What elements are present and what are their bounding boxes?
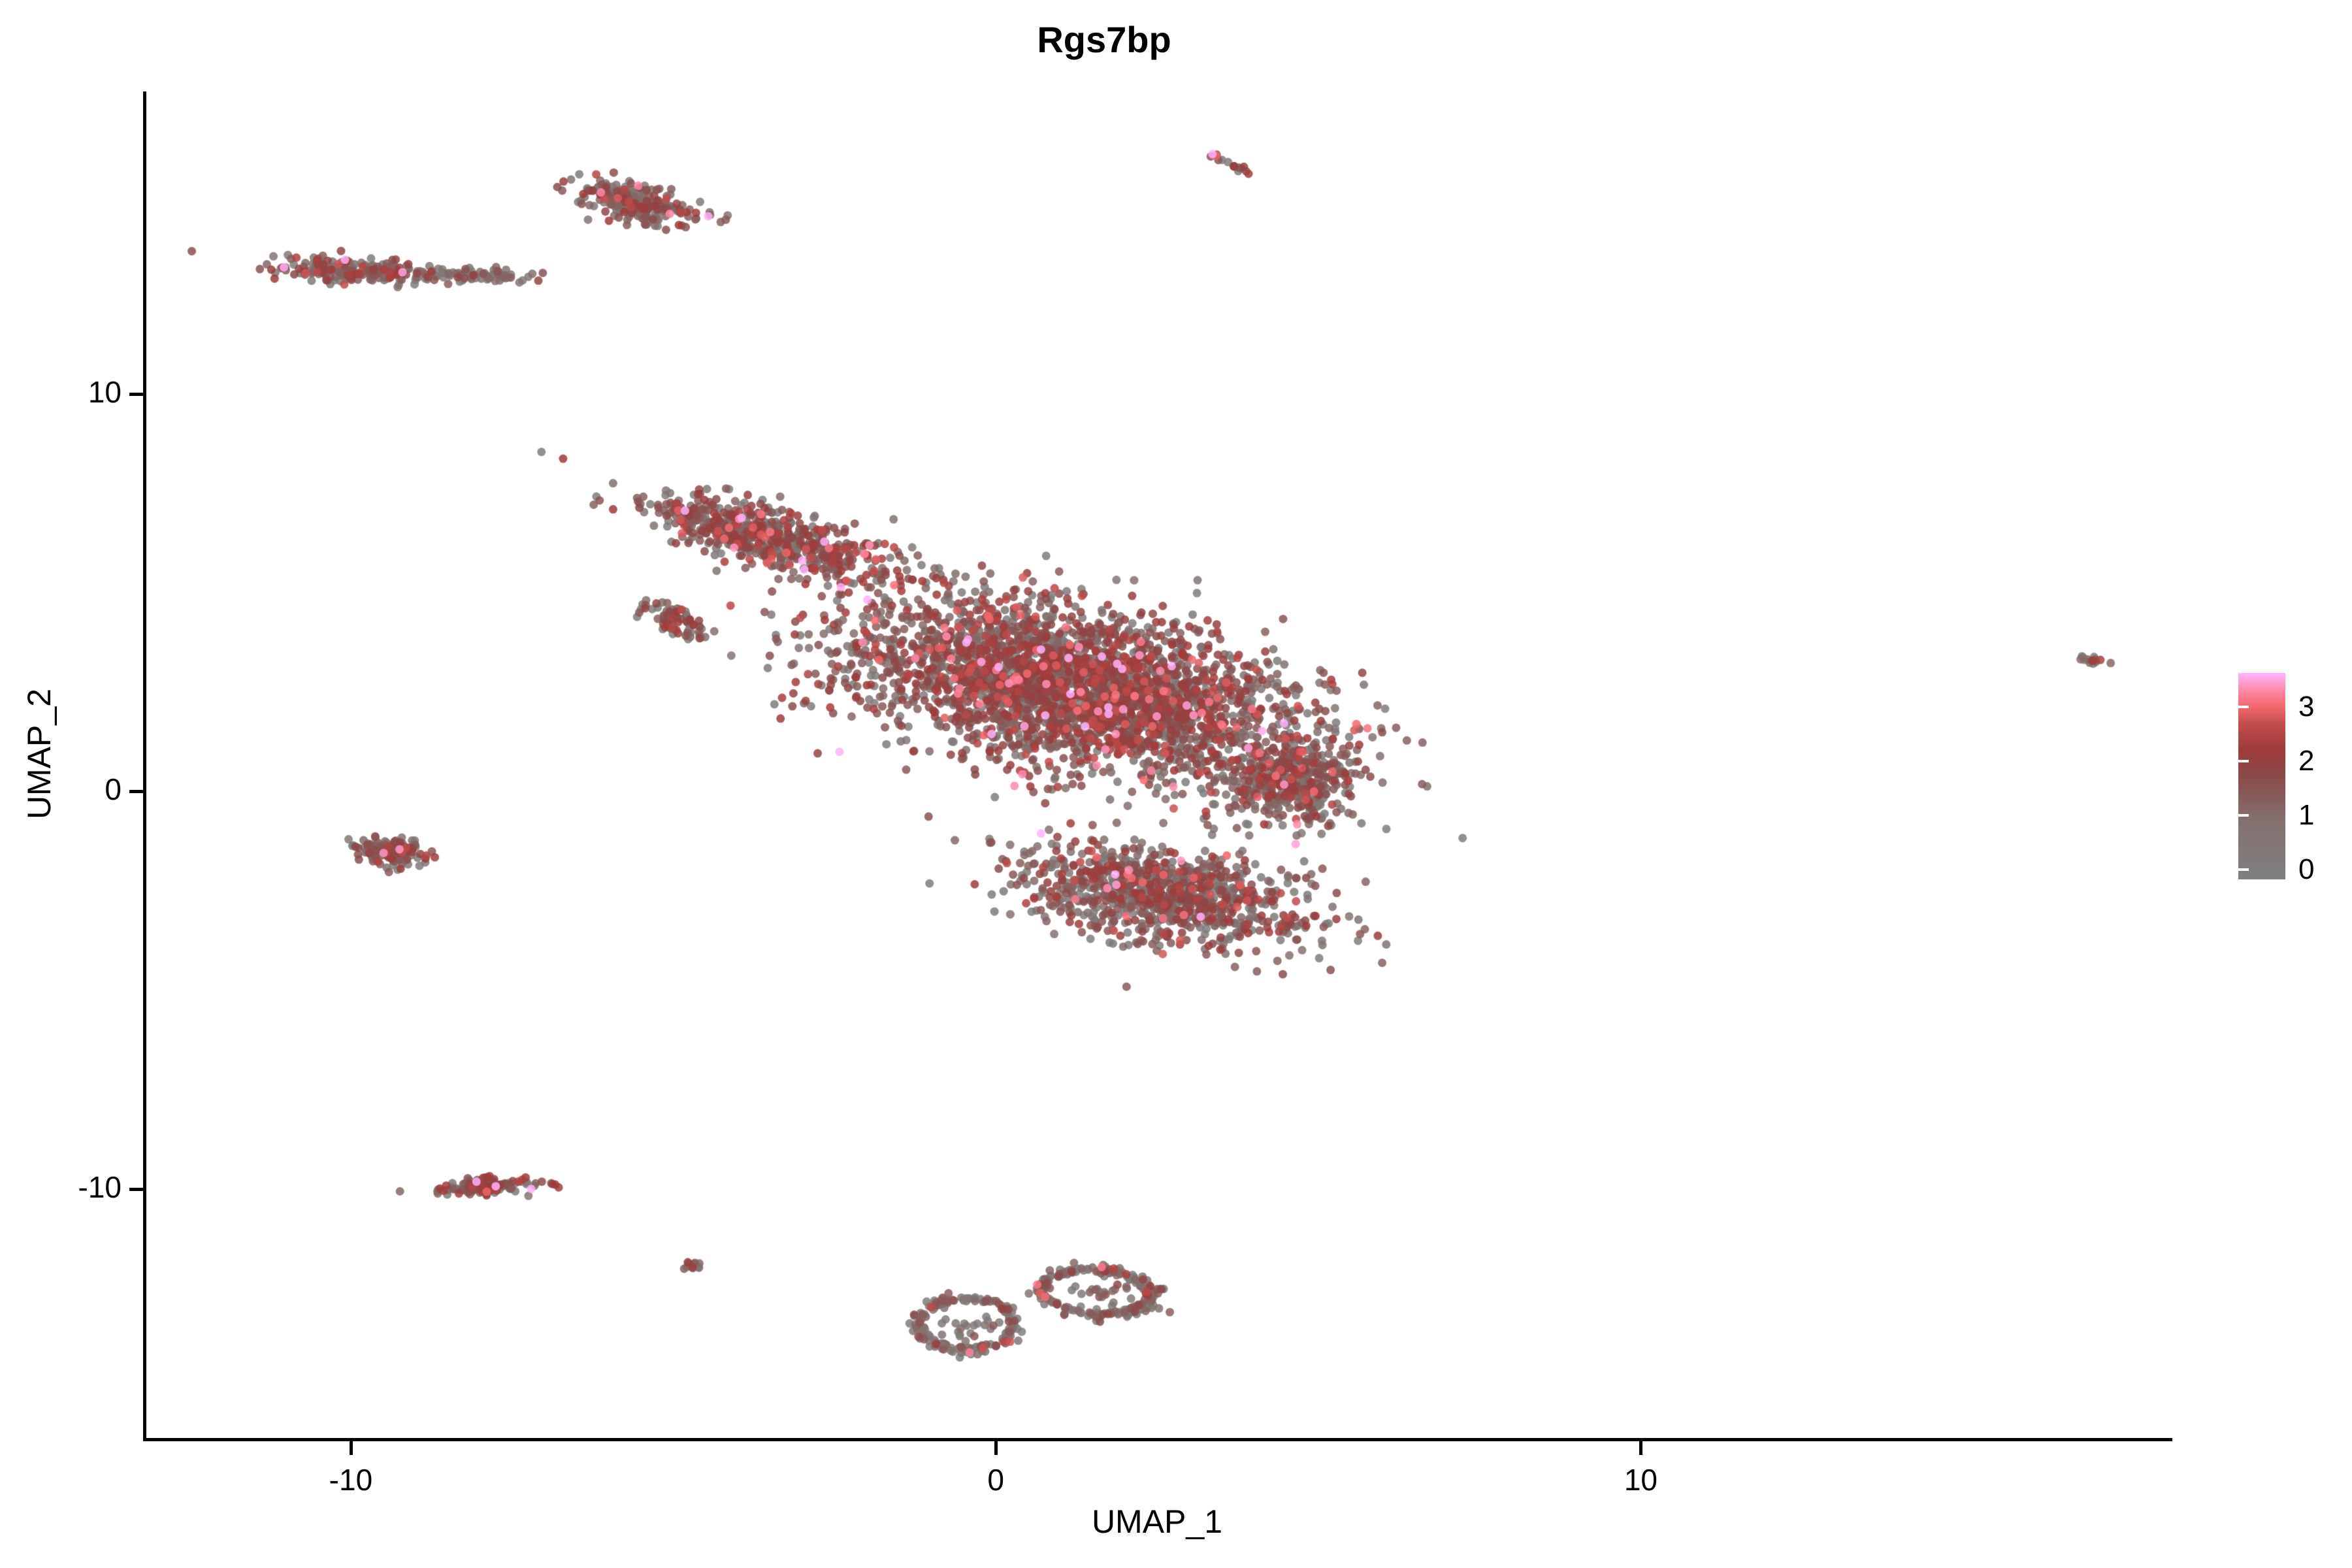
colorbar-tick-left-0 [2238,868,2249,871]
y-tick-label-10: 10 [88,374,122,410]
y-tick-mark-10 [129,393,143,396]
colorbar-label-0: 0 [2298,853,2314,886]
y-axis-line [143,91,146,1441]
figure-root: Rgs7bp 10 0 -10 -10 0 10 UMAP_1 UMAP_2 3… [0,0,2352,1568]
y-axis-title: UMAP_2 [20,493,58,1015]
x-tick-label-neg10: -10 [329,1462,372,1497]
colorbar-tick-right-0 [2228,868,2238,871]
y-tick-label-0: 0 [105,772,122,807]
colorbar-label-2: 2 [2298,745,2314,777]
colorbar-tick-right-2 [2228,760,2238,762]
y-tick-mark-neg10 [129,1188,143,1191]
x-tick-label-0: 0 [987,1462,1004,1497]
x-tick-mark-0 [994,1441,998,1455]
x-axis-title: UMAP_1 [144,1503,2170,1541]
x-axis-line [143,1438,2172,1441]
colorbar-tick-left-3 [2238,706,2249,708]
colorbar-tick-left-2 [2238,760,2249,762]
page-title: Rgs7bp [0,18,2208,61]
colorbar-tick-right-3 [2228,706,2238,708]
colorbar-gradient [2238,673,2285,879]
x-tick-mark-10 [1639,1441,1642,1455]
scatter-plot-canvas [144,91,2170,1439]
x-tick-label-10: 10 [1624,1462,1658,1497]
y-tick-mark-0 [129,790,143,793]
colorbar-tick-right-1 [2228,814,2238,817]
x-tick-mark-neg10 [350,1441,353,1455]
colorbar-tick-left-1 [2238,814,2249,817]
colorbar-label-3: 3 [2298,691,2314,723]
plot-panel [144,91,2170,1439]
y-tick-label-neg10: -10 [78,1169,122,1205]
colorbar-label-1: 1 [2298,799,2314,832]
